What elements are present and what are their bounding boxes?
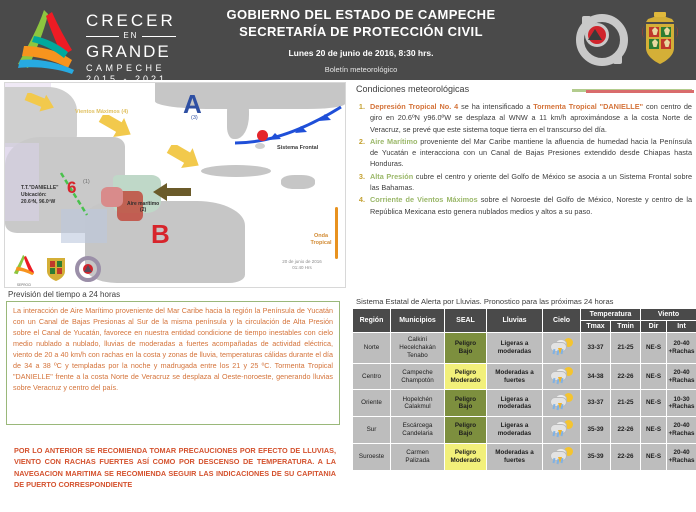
cell-tmin: 21-25: [611, 333, 641, 364]
condition-lead: Alta Presión: [370, 172, 413, 181]
cell-cielo: [543, 333, 581, 364]
campeche-coat-of-arms-icon: [638, 12, 682, 68]
cell-lluvias: Ligeras amoderadas: [487, 333, 543, 364]
bulletin-label: Boletín meteorológico: [200, 65, 522, 74]
th-region: Región: [353, 309, 391, 333]
th-int: Int: [667, 321, 696, 333]
condition-lead: Aire Marítimo: [370, 137, 417, 146]
sistema-frontal-label: Sistema Frontal: [277, 145, 318, 151]
condition-item-1: 1. Depresión Tropical No. 4 se ha intens…: [354, 101, 692, 135]
map-footer-logos: SEPROCI: [11, 253, 101, 283]
weather-bulletin-page: CRECER EN GRANDE CAMPECHE 2015 - 2021 GO…: [0, 0, 696, 512]
th-tmin: Tmin: [611, 321, 641, 333]
condition-number: 3.: [354, 171, 365, 194]
cell-region: Norte: [353, 333, 391, 364]
cell-municipios: HopelchénCalakmul: [391, 390, 445, 417]
condition-lead: Corriente de Vientos Máximos: [370, 195, 478, 204]
condition-lead: Depresión Tropical No. 4: [370, 102, 458, 111]
cell-seal: PeligroModerado: [445, 363, 487, 390]
conditions-list: 1. Depresión Tropical No. 4 se ha intens…: [352, 101, 692, 217]
cell-dir: NE-S: [641, 363, 667, 390]
cell-tmax: 35-39: [581, 444, 611, 471]
cell-tmax: 33-37: [581, 390, 611, 417]
condition-number: 2.: [354, 136, 365, 170]
alert-table-title: Sistema Estatal de Alerta por Lluvias. P…: [356, 297, 692, 306]
government-title: GOBIERNO DEL ESTADO DE CAMPECHE: [200, 7, 522, 22]
accent-bar-red: [586, 90, 694, 93]
cell-tmax: 34-38: [581, 363, 611, 390]
high-pressure-letter-a: A: [183, 91, 202, 117]
condition-number: 1.: [354, 101, 365, 135]
page-header: CRECER EN GRANDE CAMPECHE 2015 - 2021 GO…: [0, 0, 696, 80]
logo-line-en: EN: [86, 32, 176, 40]
alert-table: Región Municipios SEAL Lluvias Cielo Tem…: [352, 308, 696, 471]
cell-int: 20-40+Rachas: [667, 363, 696, 390]
cell-dir: NE-S: [641, 390, 667, 417]
cell-cielo: [543, 390, 581, 417]
map-civil-protection-icon: [75, 253, 101, 283]
map-timestamp: 20 de junio de 201601:40 Hrs: [271, 259, 333, 271]
low-pressure-letter-b: B: [151, 221, 170, 247]
cell-dir: NE-S: [641, 444, 667, 471]
civil-protection-icon: [576, 14, 628, 66]
forecast-text: La interacción de Aire Marítimo provenie…: [13, 306, 333, 394]
bulletin-date: Lunes 20 de junio de 2016, 8:30 hrs.: [200, 48, 522, 58]
crecer-logo-mark: [14, 6, 80, 74]
cell-cielo: [543, 417, 581, 444]
condition-text: Depresión Tropical No. 4 se ha intensifi…: [370, 101, 692, 135]
cell-cielo: [543, 363, 581, 390]
cell-dir: NE-S: [641, 333, 667, 364]
cell-tmin: 22-26: [611, 444, 641, 471]
tropical-storm-symbol: 6: [67, 179, 76, 196]
cell-int: 20-40+Rachas: [667, 333, 696, 364]
storm-info-label: T.T."DANIELLE" Ubicación: 20.6ºN, 96.0ºW: [21, 185, 59, 205]
th-dir: Dir: [641, 321, 667, 333]
th-temperatura: Temperatura: [581, 309, 641, 321]
cell-region: Oriente: [353, 390, 391, 417]
header-titles: GOBIERNO DEL ESTADO DE CAMPECHE SECRETAR…: [200, 7, 532, 74]
cell-municipios: EscárcegaCandelaria: [391, 417, 445, 444]
condition-lead2: Tormenta Tropical "DANIELLE": [533, 102, 643, 111]
nublado-lluvia-icon: [549, 367, 575, 384]
crecer-en-grande-logo: CRECER EN GRANDE CAMPECHE 2015 - 2021: [0, 0, 200, 80]
nublado-lluvia-icon: [549, 420, 575, 437]
condition-text: Aire Marítimo proveniente del Mar Caribe…: [370, 136, 692, 170]
wind-arrow-northwest: [23, 93, 57, 119]
th-viento: Viento: [641, 309, 696, 321]
cell-tmax: 35-39: [581, 417, 611, 444]
map-state-overlay-west: [5, 143, 39, 221]
th-municipios: Municipios: [391, 309, 445, 333]
storm-ubicacion-label: Ubicación:: [21, 192, 59, 199]
table-row: CentroCampecheChampotónPeligroModeradoMo…: [353, 363, 696, 390]
cell-lluvias: Ligeras amoderadas: [487, 390, 543, 417]
cell-lluvias: Moderadas afuertes: [487, 363, 543, 390]
high-pressure-ref: (3): [191, 115, 198, 122]
cell-region: Centro: [353, 363, 391, 390]
header-emblems: [532, 0, 696, 80]
cell-cielo: [543, 444, 581, 471]
nublado-lluvia-icon: [549, 338, 575, 355]
storm-name: T.T."DANIELLE": [21, 185, 59, 192]
nublado-lluvia-icon: [549, 447, 575, 464]
table-row: NorteCalkiníHecelchakánTenaboPeligroBajo…: [353, 333, 696, 364]
condition-rest: cubre el centro y oriente del Golfo de M…: [370, 172, 692, 192]
cell-seal: PeligroBajo: [445, 333, 487, 364]
th-lluvias: Lluvias: [487, 309, 543, 333]
th-tmax: Tmax: [581, 321, 611, 333]
seproci-logo-icon: SEPROCI: [11, 253, 37, 283]
nublado-lluvia-icon: [549, 393, 575, 410]
condition-item-3: 3. Alta Presión cubre el centro y orient…: [354, 171, 692, 194]
condition-text: Alta Presión cubre el centro y oriente d…: [370, 171, 692, 194]
alert-table-body: NorteCalkiníHecelchakánTenaboPeligroBajo…: [353, 333, 696, 471]
condition-number: 4.: [354, 194, 365, 217]
cell-region: Sur: [353, 417, 391, 444]
weather-map: Sistema Frontal 6 T.T."DANIELLE" Ubicaci…: [4, 82, 346, 288]
cell-int: 10-30+Rachas: [667, 390, 696, 417]
conditions-section: Condiciones meteorológicas 1. Depresión …: [352, 84, 692, 218]
low-pressure-marker: [257, 130, 268, 141]
storm-ref-number: (1): [83, 179, 90, 186]
table-row: SurEscárcegaCandelariaPeligroBajoLigeras…: [353, 417, 696, 444]
cell-int: 20-40+Rachas: [667, 417, 696, 444]
table-row: SuroesteCarmenPalizadaPeligroModeradoMod…: [353, 444, 696, 471]
seproci-label: SEPROCI: [11, 283, 37, 287]
cell-municipios: CampecheChampotón: [391, 363, 445, 390]
department-title: SECRETARÍA DE PROTECCIÓN CIVIL: [200, 24, 522, 39]
cell-seal: PeligroBajo: [445, 417, 487, 444]
cell-municipios: CalkiníHecelchakánTenabo: [391, 333, 445, 364]
condition-text: Corriente de Vientos Máximos sobre el No…: [370, 194, 692, 217]
cell-tmin: 22-26: [611, 417, 641, 444]
cell-seal: PeligroBajo: [445, 390, 487, 417]
condition-item-2: 2. Aire Marítimo proveniente del Mar Car…: [354, 136, 692, 170]
condition-rest: proveniente del Mar Caribe mantiene la a…: [370, 137, 692, 169]
cell-municipios: CarmenPalizada: [391, 444, 445, 471]
logo-line-grande: GRANDE: [86, 43, 176, 60]
aire-maritimo-label: Aire marítimo(2): [127, 201, 159, 213]
map-land-tabasco: [101, 187, 123, 207]
cell-tmin: 21-25: [611, 390, 641, 417]
recommendation-text: POR LO ANTERIOR SE RECOMIENDA TOMAR PREC…: [14, 445, 336, 490]
map-coat-of-arms-icon: [43, 253, 69, 283]
storm-coordinates: 20.6ºN, 96.0ºW: [21, 199, 59, 206]
cell-lluvias: Ligeras amoderadas: [487, 417, 543, 444]
table-row: OrienteHopelchénCalakmulPeligroBajoLiger…: [353, 390, 696, 417]
cell-tmin: 22-26: [611, 363, 641, 390]
forecast-box: La interacción de Aire Marítimo provenie…: [6, 301, 340, 425]
cell-int: 20-40+Rachas: [667, 444, 696, 471]
crecer-logo-text: CRECER EN GRANDE CAMPECHE 2015 - 2021: [86, 12, 176, 84]
cell-seal: PeligroModerado: [445, 444, 487, 471]
condition-item-4: 4. Corriente de Vientos Máximos sobre el…: [354, 194, 692, 217]
logo-line-crecer: CRECER: [86, 12, 176, 29]
cell-dir: NE-S: [641, 417, 667, 444]
vientos-maximos-label: Vientos Máximos (4): [75, 109, 128, 116]
th-seal: SEAL: [445, 309, 487, 333]
table-header-row-1: Región Municipios SEAL Lluvias Cielo Tem…: [353, 309, 696, 321]
condition-mid: se ha intensificado a: [458, 102, 533, 111]
map-land-hispaniola: [281, 175, 315, 189]
onda-tropical-label: OndaTropical: [301, 233, 341, 247]
cell-lluvias: Moderadas afuertes: [487, 444, 543, 471]
th-cielo: Cielo: [543, 309, 581, 333]
wind-arrow-center: [97, 115, 135, 145]
wind-arrow-southeast: [165, 145, 203, 177]
forecast-title: Previsión del tiempo a 24 horas: [8, 290, 344, 299]
map-land-cuba: [201, 165, 271, 177]
cell-region: Suroeste: [353, 444, 391, 471]
cell-tmax: 33-37: [581, 333, 611, 364]
logo-line-campeche: CAMPECHE: [86, 64, 176, 73]
